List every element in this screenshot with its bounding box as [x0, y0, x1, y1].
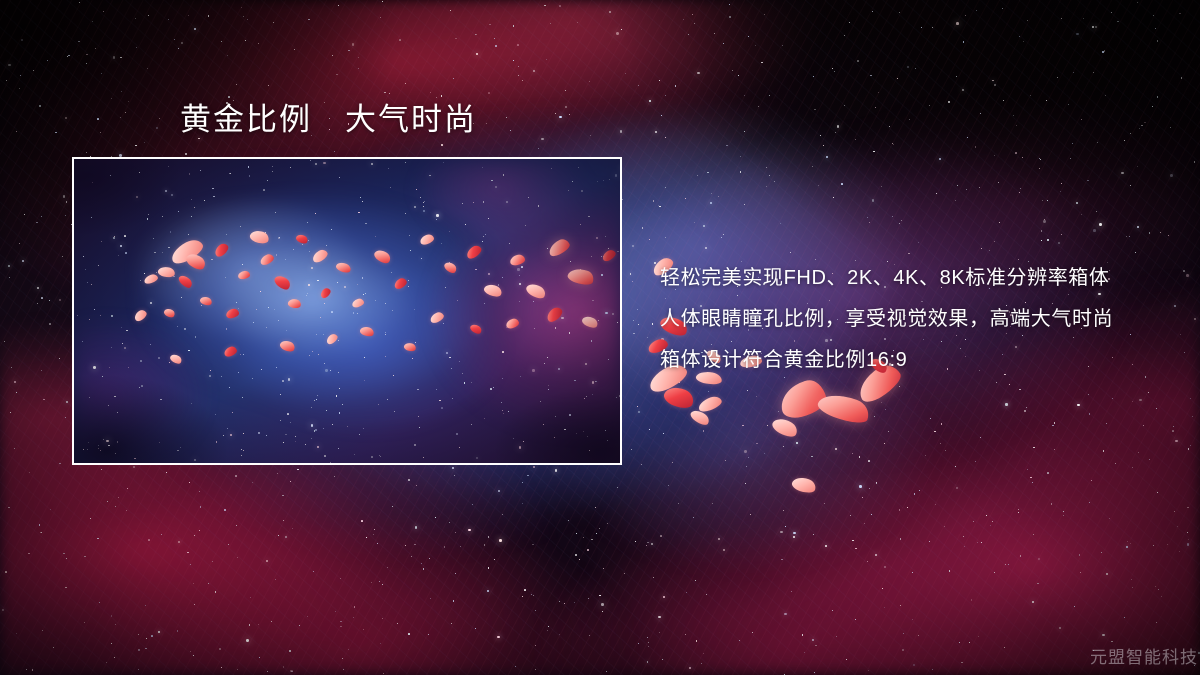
- presentation-slide: 黄金比例 大气时尚 轻松完美实现FHD、2K、4K、8K标准分辨率箱体 人体眼睛…: [0, 0, 1200, 675]
- photo-vignette: [74, 159, 620, 463]
- framed-photo: [72, 157, 622, 465]
- body-copy: 轻松完美实现FHD、2K、4K、8K标准分辨率箱体 人体眼睛瞳孔比例，享受视觉效…: [660, 258, 1180, 381]
- body-line-3: 箱体设计符合黄金比例16:9: [660, 340, 1180, 381]
- page-title: 黄金比例 大气时尚: [180, 101, 477, 140]
- body-line-1: 轻松完美实现FHD、2K、4K、8K标准分辨率箱体: [660, 258, 1180, 299]
- body-line-2: 人体眼睛瞳孔比例，享受视觉效果，高端大气时尚: [660, 299, 1180, 340]
- watermark: 元盟智能科技: [1090, 643, 1198, 668]
